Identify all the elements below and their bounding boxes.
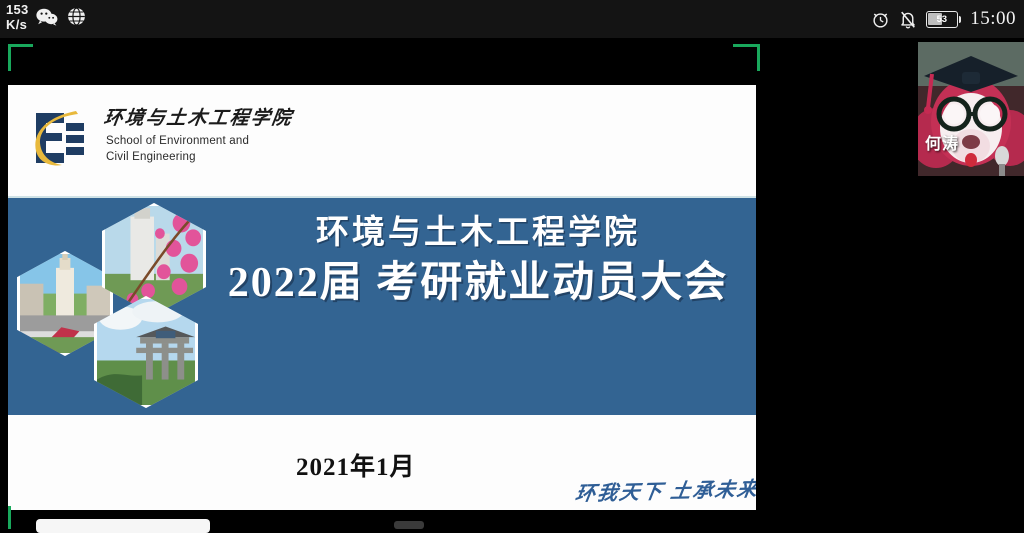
status-clock: 15:00 (970, 8, 1016, 30)
toolbar-chip[interactable] (394, 521, 424, 529)
slide-title-block: 环境与土木工程学院 2022届 考研就业动员大会 (204, 211, 752, 311)
alarm-icon (871, 10, 890, 29)
presentation-slide[interactable]: 环境与土木工程学院 School of Environment and Civi… (8, 85, 756, 510)
logo-english-line1: School of Environment and (106, 135, 249, 147)
screen-share-bracket-bottom-left (8, 506, 33, 529)
campus-blossom-tower-photo (102, 203, 206, 315)
logo-english-line2: Civil Engineering (106, 151, 196, 163)
slide-footer: 2021年1月 环我天下 土承未来 (8, 415, 756, 510)
status-notification-icons (36, 7, 86, 26)
slide-title-line1: 环境与土木工程学院 (204, 211, 752, 255)
battery-indicator: 53 (926, 11, 962, 28)
slide-title-line2: 2022届 考研就业动员大会 (204, 255, 752, 311)
slide-slogan: 环我天下 土承未来 (573, 473, 756, 507)
network-speed-value: 153 (6, 2, 29, 17)
logo-chinese-name: 环境与土木工程学院 (102, 103, 295, 130)
browser-icon (67, 7, 86, 26)
band-divider-line (8, 196, 756, 198)
network-speed-unit: K/s (6, 17, 29, 32)
participant-video-thumbnail[interactable]: 何涛 (918, 42, 1024, 176)
message-input[interactable] (36, 519, 210, 533)
participant-name-label: 何涛 (925, 130, 959, 154)
screen-share-bracket-top-right (733, 44, 760, 71)
battery-level-text: 53 (937, 14, 947, 25)
hexagon-photo-collage (12, 203, 212, 408)
network-speed-indicator: 153 K/s (6, 2, 29, 32)
slide-header: 环境与土木工程学院 School of Environment and Civi… (8, 85, 756, 196)
ec-monogram-icon (30, 107, 92, 169)
school-logo: 环境与土木工程学院 School of Environment and Civi… (26, 99, 291, 181)
graduate-monkey-avatar (918, 42, 1024, 176)
wechat-icon (36, 8, 58, 26)
slide-date: 2021年1月 (296, 447, 416, 483)
mute-bell-icon (899, 10, 917, 29)
status-bar: 153 K/s (0, 0, 1024, 38)
screen-share-bracket-top-left (8, 44, 33, 71)
status-system-icons: 53 15:00 (871, 0, 1016, 38)
